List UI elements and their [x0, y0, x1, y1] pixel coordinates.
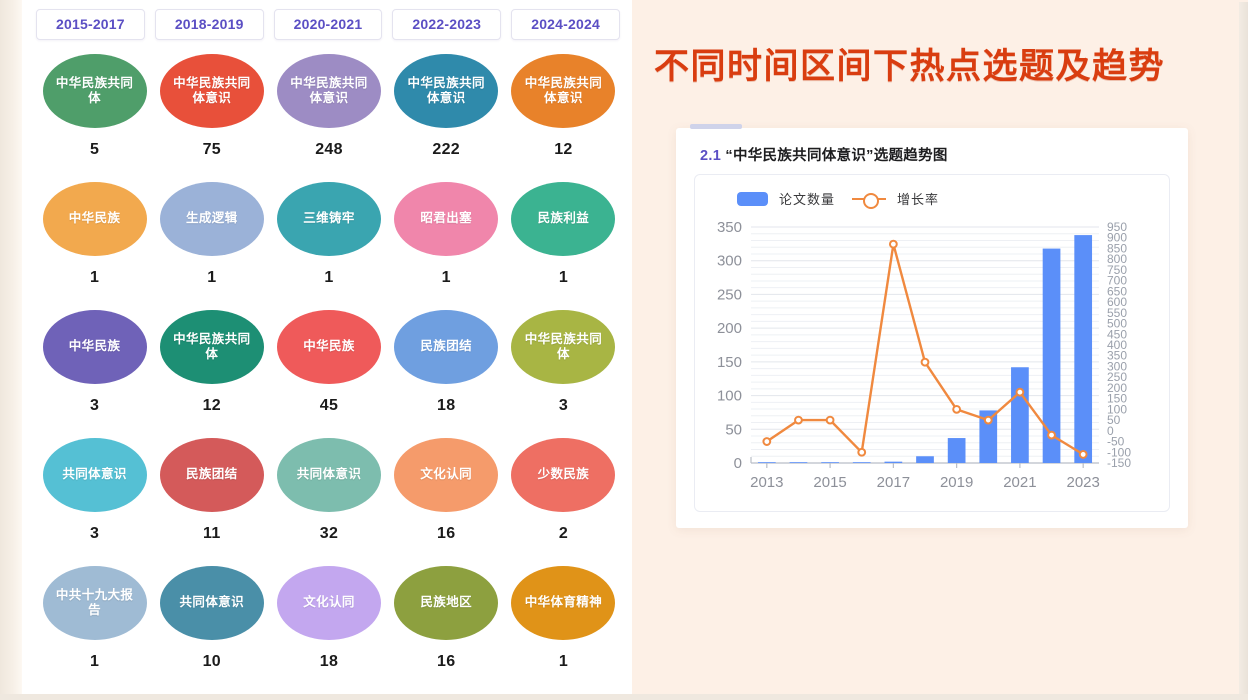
bubble-cell: 共同体意识10 [153, 566, 270, 671]
bubble-cell: 中华民族共同体5 [36, 54, 153, 159]
card-accent-bar [690, 124, 742, 129]
tab-period-2[interactable]: 2020-2021 [274, 9, 383, 40]
keyword-bubble[interactable]: 民族团结 [394, 310, 498, 384]
bubble-cell: 昭君出塞1 [388, 182, 505, 287]
keyword-bubble-label: 共同体意识 [297, 467, 362, 482]
y-axis-tick-label: 0 [734, 455, 742, 472]
bubble-cell: 民族地区16 [388, 566, 505, 671]
keyword-bubble[interactable]: 中华民族共同体 [160, 310, 264, 384]
chart-card-title: 2.1 “中华民族共同体意识”选题趋势图 [700, 144, 1170, 165]
chart-line-marker [985, 417, 992, 424]
bubble-row: 中华民族共同体5中华民族共同体意识75中华民族共同体意识248中华民族共同体意识… [36, 54, 622, 182]
keyword-bubble[interactable]: 中华民族共同体意识 [277, 54, 381, 128]
keyword-bubble[interactable]: 昭君出塞 [394, 182, 498, 256]
chart-line-marker [922, 359, 929, 366]
keyword-bubble[interactable]: 中华民族共同体意识 [394, 54, 498, 128]
y-axis-tick-label: 50 [725, 421, 742, 438]
x-axis-tick-label: 2021 [1003, 474, 1036, 491]
keyword-count: 12 [203, 397, 221, 415]
bubble-row: 中华民族3中华民族共同体12中华民族45民族团结18中华民族共同体3 [36, 310, 622, 438]
chart-bar [790, 462, 808, 463]
keyword-bubble-label: 中华民族共同体意识 [519, 76, 607, 107]
keyword-bubble-label: 少数民族 [538, 467, 590, 482]
chart-line-marker [763, 438, 770, 445]
keyword-bubble[interactable]: 生成逻辑 [160, 182, 264, 256]
keyword-bubble[interactable]: 中华体育精神 [511, 566, 615, 640]
x-axis-tick-label: 2019 [940, 474, 973, 491]
x-axis-tick-label: 2017 [877, 474, 910, 491]
keyword-count: 1 [207, 269, 216, 287]
keyword-bubble-label: 民族地区 [420, 595, 472, 610]
keyword-count: 12 [554, 141, 572, 159]
keyword-count: 18 [320, 653, 338, 671]
bubble-cell: 三维铸牢1 [270, 182, 387, 287]
y-axis-tick-label: 150 [717, 354, 742, 371]
bubble-cell: 中华民族共同体3 [505, 310, 622, 415]
tab-period-0[interactable]: 2015-2017 [36, 9, 145, 40]
y-axis-tick-label: 200 [717, 320, 742, 337]
chart-line-marker [890, 241, 897, 248]
bubble-cell: 中华体育精神1 [505, 566, 622, 671]
bubble-cell: 文化认同16 [388, 438, 505, 543]
bubble-cell: 中共十九大报告1 [36, 566, 153, 671]
keyword-bubble[interactable]: 三维铸牢 [277, 182, 381, 256]
chart-bar [758, 462, 776, 463]
keyword-bubble-grid: 中华民族共同体5中华民族共同体意识75中华民族共同体意识248中华民族共同体意识… [22, 54, 632, 694]
y-axis-tick-label: 100 [717, 388, 742, 405]
keyword-count: 10 [203, 653, 221, 671]
tab-period-3[interactable]: 2022-2023 [392, 9, 501, 40]
page-title: 不同时间区间下热点选题及趋势 [654, 38, 1165, 89]
chart-bar [1011, 367, 1029, 463]
chart-line-marker [1017, 389, 1024, 396]
keyword-bubble[interactable]: 中共十九大报告 [43, 566, 147, 640]
keyword-bubble-label: 中华民族 [69, 211, 121, 226]
x-axis-tick-label: 2015 [813, 474, 846, 491]
chart-section-number: 2.1 [700, 148, 721, 164]
keyword-count: 3 [90, 525, 99, 543]
keyword-bubble-label: 文化认同 [303, 595, 355, 610]
bubble-row: 中华民族1生成逻辑1三维铸牢1昭君出塞1民族利益1 [36, 182, 622, 310]
keyword-count: 1 [559, 269, 568, 287]
keyword-bubble[interactable]: 文化认同 [277, 566, 381, 640]
bubble-cell: 生成逻辑1 [153, 182, 270, 287]
keyword-bubble-label: 共同体意识 [180, 595, 245, 610]
trend-panel: 不同时间区间下热点选题及趋势 2.1 “中华民族共同体意识”选题趋势图 论文数量… [632, 0, 1248, 700]
keyword-bubble[interactable]: 中华民族 [277, 310, 381, 384]
bubble-cell: 民族利益1 [505, 182, 622, 287]
keyword-count: 2 [559, 525, 568, 543]
keyword-bubble[interactable]: 共同体意识 [160, 566, 264, 640]
keyword-count: 16 [437, 525, 455, 543]
y-axis-tick-label: 350 [717, 219, 742, 236]
chart-bar [853, 462, 871, 463]
keyword-count: 1 [324, 269, 333, 287]
y-axis-tick-label: 300 [717, 253, 742, 270]
bubble-cell: 中华民族3 [36, 310, 153, 415]
chart-bar [821, 462, 839, 463]
keyword-panel: 2015-2017 2018-2019 2020-2021 2022-2023 … [22, 0, 632, 700]
keyword-bubble-label: 中华体育精神 [525, 595, 602, 610]
keyword-count: 1 [559, 653, 568, 671]
period-tabs: 2015-2017 2018-2019 2020-2021 2022-2023 … [22, 9, 632, 40]
x-axis-tick-label: 2013 [750, 474, 783, 491]
keyword-bubble[interactable]: 中华民族共同体 [43, 54, 147, 128]
keyword-bubble-label: 民族团结 [186, 467, 238, 482]
keyword-count: 16 [437, 653, 455, 671]
keyword-bubble-label: 民族团结 [420, 339, 472, 354]
keyword-bubble-label: 中华民族共同体意识 [285, 76, 373, 107]
bubble-cell: 中华民族共同体意识75 [153, 54, 270, 159]
bubble-cell: 少数民族2 [505, 438, 622, 543]
keyword-bubble-label: 中华民族共同体 [51, 76, 139, 107]
keyword-bubble[interactable]: 民族利益 [511, 182, 615, 256]
keyword-count: 5 [90, 141, 99, 159]
slide-stage: 2015-2017 2018-2019 2020-2021 2022-2023 … [0, 0, 1248, 700]
chart-bar [916, 456, 934, 463]
trend-chart-svg: 0501001502002503003509509008508007507006… [695, 175, 1171, 513]
keyword-count: 18 [437, 397, 455, 415]
keyword-bubble-label: 中共十九大报告 [51, 588, 139, 619]
keyword-count: 1 [442, 269, 451, 287]
tab-period-4[interactable]: 2024-2024 [511, 9, 620, 40]
keyword-count: 75 [203, 141, 221, 159]
chart-line-marker [858, 449, 865, 456]
chart-line-marker [1080, 451, 1087, 458]
keyword-bubble-label: 三维铸牢 [303, 211, 355, 226]
left-gutter [0, 0, 22, 700]
keyword-count: 11 [203, 525, 221, 543]
bubble-row: 共同体意识3民族团结11共同体意识32文化认同16少数民族2 [36, 438, 622, 566]
chart-plot-area: 论文数量 增长率 0501001502002503003509509008508… [694, 174, 1170, 512]
bubble-cell: 民族团结18 [388, 310, 505, 415]
chart-card: 2.1 “中华民族共同体意识”选题趋势图 论文数量 增长率 0501001502… [676, 128, 1188, 528]
keyword-count: 3 [90, 397, 99, 415]
bubble-cell: 中华民族共同体意识248 [270, 54, 387, 159]
keyword-bubble-label: 中华民族 [303, 339, 355, 354]
bubble-cell: 中华民族共同体意识222 [388, 54, 505, 159]
keyword-count: 248 [315, 141, 343, 159]
bubble-row: 中共十九大报告1共同体意识10文化认同18民族地区16中华体育精神1 [36, 566, 622, 694]
keyword-bubble[interactable]: 中华民族 [43, 182, 147, 256]
y2-axis-tick-label: -150 [1107, 456, 1131, 470]
bubble-cell: 中华民族共同体意识12 [505, 54, 622, 159]
bottom-edge [0, 694, 1248, 700]
chart-line-marker [827, 417, 834, 424]
keyword-bubble[interactable]: 中华民族 [43, 310, 147, 384]
keyword-bubble[interactable]: 少数民族 [511, 438, 615, 512]
keyword-bubble-label: 中华民族 [69, 339, 121, 354]
keyword-bubble-label: 中华民族共同体 [168, 332, 256, 363]
keyword-bubble[interactable]: 共同体意识 [43, 438, 147, 512]
keyword-bubble-label: 生成逻辑 [186, 211, 238, 226]
keyword-bubble-label: 昭君出塞 [420, 211, 472, 226]
keyword-count: 3 [559, 397, 568, 415]
keyword-bubble-label: 共同体意识 [62, 467, 127, 482]
keyword-count: 32 [320, 525, 338, 543]
keyword-count: 222 [432, 141, 460, 159]
keyword-bubble-label: 中华民族共同体意识 [168, 76, 256, 107]
keyword-bubble[interactable]: 中华民族共同体意识 [160, 54, 264, 128]
chart-title-text: “中华民族共同体意识”选题趋势图 [725, 148, 947, 164]
keyword-bubble-label: 文化认同 [420, 467, 472, 482]
keyword-bubble-label: 中华民族共同体 [519, 332, 607, 363]
chart-bar [948, 438, 966, 463]
chart-line-marker [1048, 432, 1055, 439]
bubble-cell: 共同体意识3 [36, 438, 153, 543]
chart-bar [885, 462, 903, 463]
right-edge-shadow [1239, 2, 1248, 700]
keyword-bubble-label: 民族利益 [538, 211, 590, 226]
chart-line-marker [795, 417, 802, 424]
keyword-count: 45 [320, 397, 338, 415]
chart-bar [1074, 235, 1092, 463]
chart-line-marker [953, 406, 960, 413]
bubble-cell: 文化认同18 [270, 566, 387, 671]
keyword-bubble[interactable]: 中华民族共同体意识 [511, 54, 615, 128]
keyword-count: 1 [90, 653, 99, 671]
keyword-bubble[interactable]: 共同体意识 [277, 438, 381, 512]
keyword-count: 1 [90, 269, 99, 287]
bubble-cell: 民族团结11 [153, 438, 270, 543]
bubble-cell: 共同体意识32 [270, 438, 387, 543]
keyword-bubble-label: 中华民族共同体意识 [402, 76, 490, 107]
x-axis-tick-label: 2023 [1066, 474, 1099, 491]
keyword-bubble[interactable]: 民族团结 [160, 438, 264, 512]
bubble-cell: 中华民族45 [270, 310, 387, 415]
tab-period-1[interactable]: 2018-2019 [155, 9, 264, 40]
y-axis-tick-label: 250 [717, 286, 742, 303]
keyword-bubble[interactable]: 文化认同 [394, 438, 498, 512]
bubble-cell: 中华民族1 [36, 182, 153, 287]
bubble-cell: 中华民族共同体12 [153, 310, 270, 415]
keyword-bubble[interactable]: 中华民族共同体 [511, 310, 615, 384]
keyword-bubble[interactable]: 民族地区 [394, 566, 498, 640]
